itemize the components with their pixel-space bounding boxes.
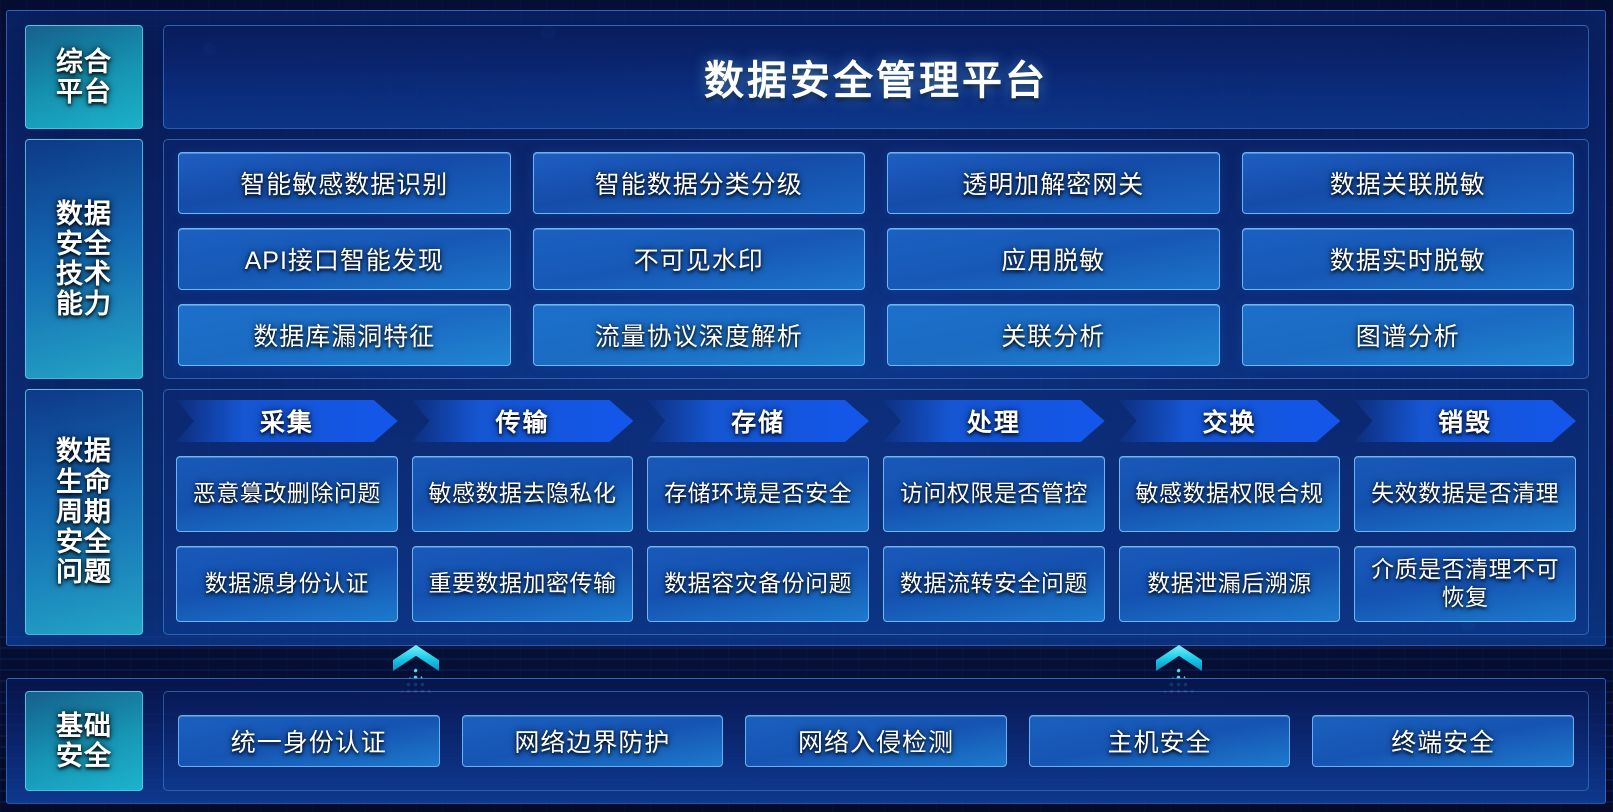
chevron-up-icon <box>1156 645 1202 671</box>
side-label-lifecycle-line-5: 问题 <box>56 557 112 587</box>
side-label-tech-line-3: 技术 <box>56 259 112 289</box>
lifecycle-problem[interactable]: 敏感数据权限合规 <box>1119 456 1341 532</box>
base-security-panel: 基础 安全 统一身份认证 网络边界防护 网络入侵检测 主机安全 终端安全 <box>6 678 1606 804</box>
side-label-base-security: 基础 安全 <box>25 691 143 791</box>
stage-arrow[interactable]: 交换 <box>1119 400 1341 442</box>
lifecycle-problem[interactable]: 重要数据加密传输 <box>412 546 634 622</box>
tech-capability-row: 数据 安全 技术 能力 智能敏感数据识别 智能数据分类分级 透明加解密网关 数据… <box>25 139 1589 379</box>
lifecycle-problem-grid: 恶意篡改删除问题 敏感数据去隐私化 存储环境是否安全 访问权限是否管控 敏感数据… <box>176 456 1576 622</box>
side-label-lifecycle-line-4: 安全 <box>56 527 112 557</box>
stage-arrow[interactable]: 存储 <box>647 400 869 442</box>
base-chip[interactable]: 主机安全 <box>1029 715 1291 767</box>
lifecycle-problem[interactable]: 恶意篡改删除问题 <box>176 456 398 532</box>
stage-arrow[interactable]: 处理 <box>883 400 1105 442</box>
stage-arrow[interactable]: 采集 <box>176 400 398 442</box>
side-label-platform: 综合 平台 <box>25 25 143 129</box>
lifecycle-problem[interactable]: 访问权限是否管控 <box>883 456 1105 532</box>
side-label-lifecycle-line-1: 数据 <box>56 436 112 466</box>
main-panel: 综合 平台 数据安全管理平台 数据 安全 技术 能力 智能敏感数据识别 <box>6 10 1606 646</box>
tech-chip[interactable]: 透明加解密网关 <box>887 152 1220 214</box>
chevron-up-icon <box>393 645 439 671</box>
tech-capability-card: 智能敏感数据识别 智能数据分类分级 透明加解密网关 数据关联脱敏 API接口智能… <box>163 139 1589 379</box>
lifecycle-problem[interactable]: 存储环境是否安全 <box>647 456 869 532</box>
tech-chip[interactable]: 流量协议深度解析 <box>533 304 866 366</box>
tech-chip[interactable]: 智能数据分类分级 <box>533 152 866 214</box>
lifecycle-row: 数据 生命 周期 安全 问题 采集 传输 存储 处理 交换 销毁 恶意篡改删除问 <box>25 389 1589 635</box>
side-label-base-line-2: 安全 <box>56 741 112 771</box>
side-label-tech-line-1: 数据 <box>56 199 112 229</box>
base-chip[interactable]: 网络入侵检测 <box>745 715 1007 767</box>
tech-chip[interactable]: 不可见水印 <box>533 228 866 290</box>
lifecycle-problem[interactable]: 数据流转安全问题 <box>883 546 1105 622</box>
side-label-lifecycle-line-2: 生命 <box>56 467 112 497</box>
lifecycle-stage-arrows: 采集 传输 存储 处理 交换 销毁 <box>176 400 1576 442</box>
infographic-root: 综合 平台 数据安全管理平台 数据 安全 技术 能力 智能敏感数据识别 <box>0 0 1613 812</box>
tech-chip[interactable]: 数据库漏洞特征 <box>178 304 511 366</box>
platform-title-card: 数据安全管理平台 <box>163 25 1589 129</box>
lifecycle-problem[interactable]: 数据源身份认证 <box>176 546 398 622</box>
page-title: 数据安全管理平台 <box>704 48 1048 106</box>
stage-arrow[interactable]: 销毁 <box>1354 400 1576 442</box>
side-label-tech-line-2: 安全 <box>56 229 112 259</box>
tech-chip[interactable]: API接口智能发现 <box>178 228 511 290</box>
base-security-card: 统一身份认证 网络边界防护 网络入侵检测 主机安全 终端安全 <box>163 691 1589 791</box>
tech-chip[interactable]: 应用脱敏 <box>887 228 1220 290</box>
stage-arrow[interactable]: 传输 <box>412 400 634 442</box>
tech-chip[interactable]: 图谱分析 <box>1242 304 1575 366</box>
side-label-platform-line-2: 平台 <box>56 77 112 107</box>
base-chip[interactable]: 网络边界防护 <box>462 715 724 767</box>
tech-chip[interactable]: 数据关联脱敏 <box>1242 152 1575 214</box>
tech-chip[interactable]: 关联分析 <box>887 304 1220 366</box>
lifecycle-problem[interactable]: 敏感数据去隐私化 <box>412 456 634 532</box>
side-label-lifecycle: 数据 生命 周期 安全 问题 <box>25 389 143 635</box>
lifecycle-problem[interactable]: 失效数据是否清理 <box>1354 456 1576 532</box>
lifecycle-problem[interactable]: 数据泄漏后溯源 <box>1119 546 1341 622</box>
side-label-lifecycle-line-3: 周期 <box>56 497 112 527</box>
lifecycle-card: 采集 传输 存储 处理 交换 销毁 恶意篡改删除问题 敏感数据去隐私化 存储环境… <box>163 389 1589 635</box>
tech-chip[interactable]: 智能敏感数据识别 <box>178 152 511 214</box>
tech-chip[interactable]: 数据实时脱敏 <box>1242 228 1575 290</box>
tech-capability-grid: 智能敏感数据识别 智能数据分类分级 透明加解密网关 数据关联脱敏 API接口智能… <box>178 152 1574 366</box>
platform-header-row: 综合 平台 数据安全管理平台 <box>25 25 1589 129</box>
lifecycle-problem[interactable]: 数据容灾备份问题 <box>647 546 869 622</box>
side-label-base-line-1: 基础 <box>56 711 112 741</box>
side-label-platform-line-1: 综合 <box>56 47 112 77</box>
side-label-tech-capability: 数据 安全 技术 能力 <box>25 139 143 379</box>
base-chip[interactable]: 终端安全 <box>1312 715 1574 767</box>
lifecycle-problem[interactable]: 介质是否清理不可恢复 <box>1354 546 1576 622</box>
side-label-tech-line-4: 能力 <box>56 289 112 319</box>
base-chip[interactable]: 统一身份认证 <box>178 715 440 767</box>
